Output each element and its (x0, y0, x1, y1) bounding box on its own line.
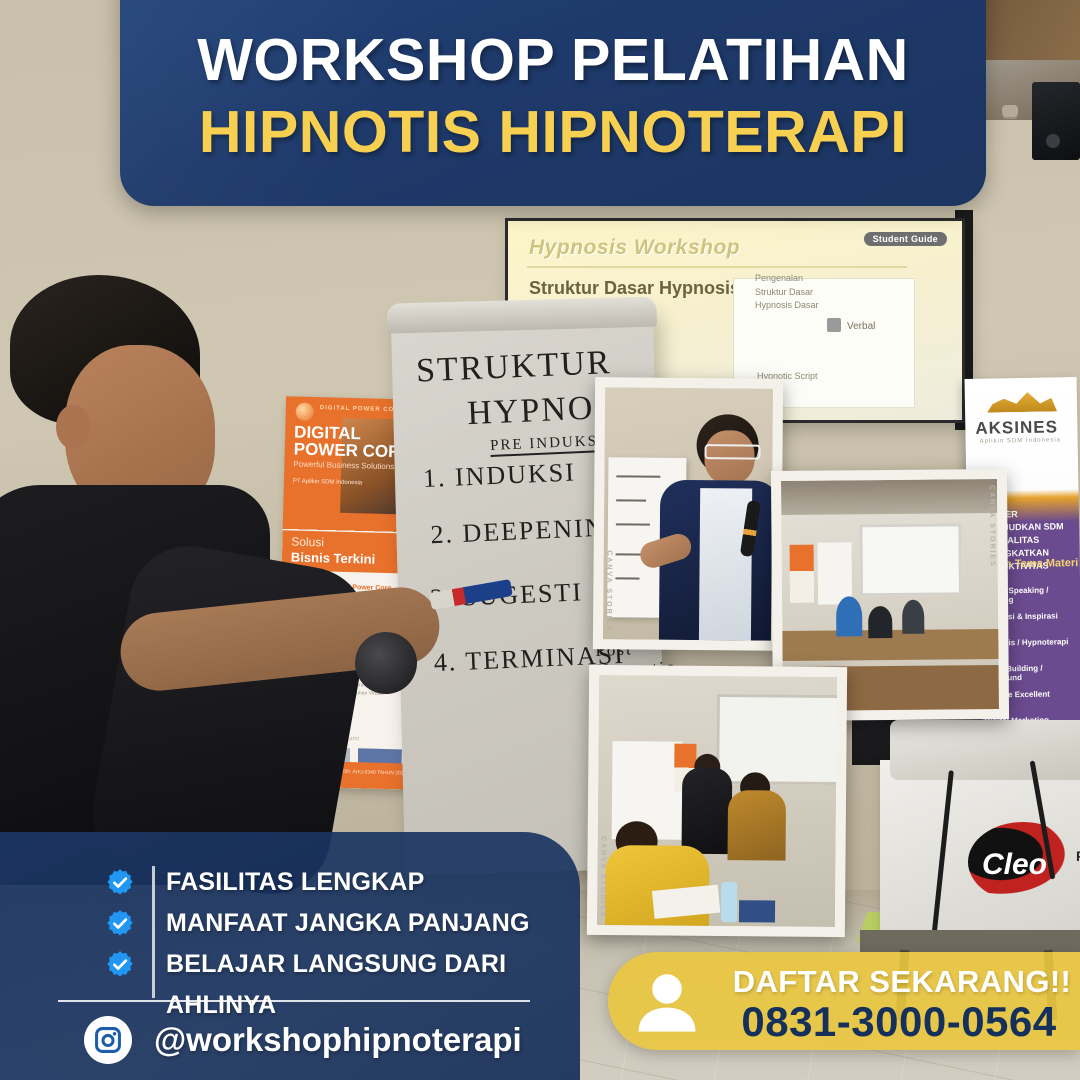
verified-check-icon (105, 950, 135, 980)
slide-label-verbal: Verbal (847, 319, 875, 334)
verified-check-icon (105, 868, 135, 898)
cta-register-box[interactable]: DAFTAR SEKARANG!! 0831-3000-0564 (608, 952, 1080, 1050)
verified-check-icon (105, 909, 135, 939)
header-banner: WORKSHOP PELATIHAN HIPNOTIS HIPNOTERAPI (120, 0, 986, 206)
cta-headline: DAFTAR SEKARANG!! (724, 964, 1080, 1000)
panel-divider (58, 1000, 530, 1002)
card2-watermark: CANVA STORIES (988, 485, 996, 568)
poster-canvas: Hypnosis Workshop Struktur Dasar Hypnosi… (0, 0, 1080, 1080)
feature-badge-1 (105, 862, 135, 903)
instagram-handle[interactable]: @workshophipnoterapi (154, 1021, 522, 1059)
flipchart-item-1: 1. INDUKSI (422, 457, 576, 494)
feature-badges (105, 862, 135, 985)
person-icon (632, 966, 702, 1036)
flipchart-paper-roll (386, 297, 657, 334)
card3-client (727, 790, 786, 861)
projector-device (890, 720, 1080, 780)
flipchart-pre-induksi: PRE INDUKSI (490, 433, 606, 457)
card3-tissue-box (739, 900, 775, 922)
crown-icon (987, 389, 1057, 412)
photo-card-speaker: CANVA STORIES (593, 377, 783, 651)
cta-phone-number[interactable]: 0831-3000-0564 (718, 998, 1080, 1046)
card1-watermark: CANVA STORIES (605, 551, 613, 634)
instagram-row[interactable]: @workshophipnoterapi (84, 1016, 522, 1064)
card2-poster (790, 545, 815, 603)
features-divider-vertical (152, 866, 155, 998)
banner-right-brand-sub: Aplikin SDM Indonesia (980, 437, 1061, 444)
photo-card-practice: CANVA STORIES (587, 665, 847, 937)
feature-item-3: BELAJAR LANGSUNG DARI (166, 944, 530, 985)
card3-watermark: CANVA STORIES (599, 836, 607, 919)
card2-person-2 (868, 606, 892, 638)
card2-person-3 (902, 600, 924, 634)
slide-rule (527, 266, 907, 268)
slide-title: Hypnosis Workshop (529, 236, 740, 260)
wall-speaker (1032, 82, 1080, 160)
card3-water-bottle (721, 882, 737, 922)
foreground-table (860, 930, 1080, 952)
feature-item-1: FASILITAS LENGKAP (166, 862, 530, 903)
cleo-brand-text: Cleo (982, 848, 1047, 882)
card3-therapist (682, 768, 733, 854)
slide-badge-student-guide: Student Guide (864, 232, 947, 246)
banner-right-brand: AKSINES (975, 417, 1058, 438)
instagram-icon[interactable] (84, 1016, 132, 1064)
flipchart-title-line1: STRUKTUR (415, 344, 612, 390)
feature-badge-2 (105, 903, 135, 944)
cleo-sub-text: Pure (1076, 848, 1080, 864)
card3-screen (716, 694, 837, 785)
header-title-line2: HIPNOTIS HIPNOTERAPI (120, 98, 986, 166)
slide-note: Pengenalan Struktur Dasar Hypnosis Dasar (755, 272, 845, 313)
presenter-ear (56, 405, 90, 449)
card2-person-1 (836, 596, 862, 636)
header-title-line1: WORKSHOP PELATIHAN (120, 26, 986, 94)
card1-glasses-icon (704, 444, 760, 459)
slide-chip-verbal (827, 318, 841, 332)
feature-item-2: MANFAAT JANGKA PANJANG (166, 903, 530, 944)
presenter-photo (0, 255, 340, 875)
feature-badge-3 (105, 944, 135, 985)
card1-shirt (699, 488, 752, 640)
card2-flipchart (818, 542, 853, 604)
card2-screen (859, 523, 962, 596)
slide-subtitle: Struktur Dasar Hypnosis (529, 278, 740, 299)
card2-ceiling (781, 479, 997, 515)
wall-sensor-icon (1002, 105, 1018, 117)
